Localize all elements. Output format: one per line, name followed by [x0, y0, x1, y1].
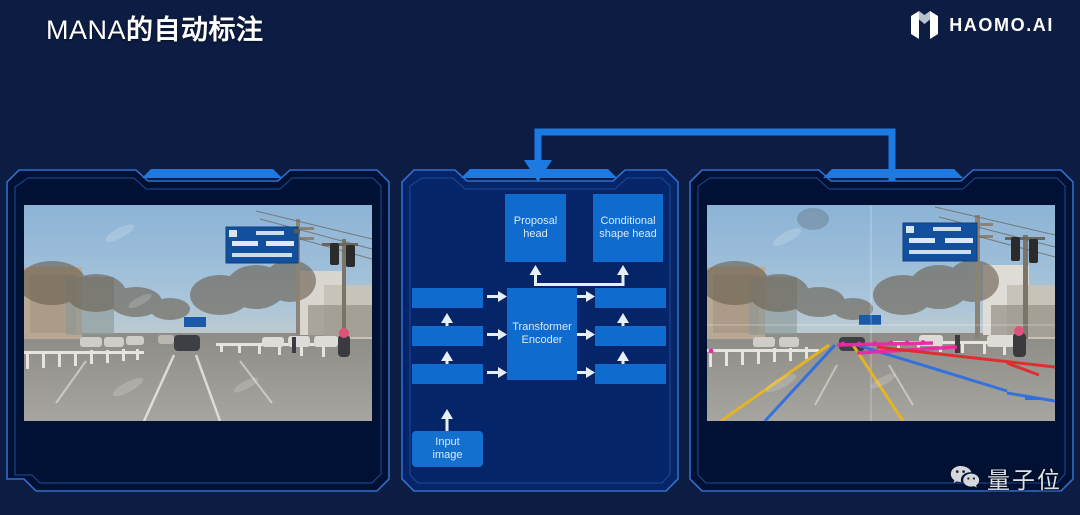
diagram-node-conditional-shape-head: Conditional shape head	[593, 194, 663, 262]
node-label-line1: Conditional	[599, 215, 657, 228]
node-label-line2: shape head	[599, 228, 657, 241]
panel-top-notch	[823, 169, 963, 178]
page-title-latin: MANA	[46, 15, 126, 45]
node-label-line2: head	[514, 228, 557, 241]
annotated-street-scene-photo	[707, 205, 1055, 421]
diagram-node-feature-1	[595, 288, 666, 308]
arrow-backbone3-to-encoder	[487, 367, 507, 378]
diagram-node-proposal-head: Proposal head	[505, 194, 566, 262]
arrow-encoder-to-feature3	[575, 367, 595, 378]
diagram-node-transformer-encoder: Transformer Encoder	[507, 288, 577, 380]
arrow-encoder-to-feature1	[575, 291, 595, 302]
mana-network-architecture-diagram: Proposal head Conditional shape head Tra…	[401, 169, 679, 494]
input-photo-panel	[6, 169, 390, 494]
diagram-node-backbone-3	[412, 364, 483, 384]
direction-sign	[226, 227, 298, 263]
arrow-backbone2-to-encoder	[487, 329, 507, 340]
brand-name: HAOMO.AI	[949, 15, 1054, 36]
node-label-line1: Proposal	[514, 215, 557, 228]
page-title-zh: 的自动标注	[126, 15, 264, 45]
haomo-m-logo-icon	[911, 11, 938, 39]
diagram-node-input-image: Input image	[412, 431, 483, 467]
watermark: 量子位	[950, 461, 1062, 495]
diagram-node-backbone-1	[412, 288, 483, 308]
diagram-node-feature-2	[595, 326, 666, 346]
node-label-line1: Input	[433, 436, 463, 449]
node-label-line2: image	[433, 449, 463, 462]
brand-logo: HAOMO.AI	[911, 10, 1054, 40]
watermark-text: 量子位	[987, 461, 1062, 495]
model-diagram-panel: Proposal head Conditional shape head Tra…	[401, 169, 679, 494]
arrow-encoder-to-feature2	[575, 329, 595, 340]
diagram-node-backbone-2	[412, 326, 483, 346]
node-label-line1: Transformer	[512, 321, 572, 334]
page-title: MANA的自动标注	[46, 8, 264, 47]
wechat-icon	[950, 465, 980, 491]
street-scene-photo	[24, 205, 372, 421]
panel-top-notch	[142, 169, 282, 178]
direction-sign	[903, 223, 977, 261]
arrow-feature1-to-heads	[530, 265, 630, 286]
diagram-node-feature-3	[595, 364, 666, 384]
node-label-line2: Encoder	[512, 334, 572, 347]
arrow-backbone1-to-encoder	[487, 291, 507, 302]
page-header: MANA的自动标注 HAOMO.AI	[0, 0, 1080, 60]
output-photo-panel	[689, 169, 1074, 494]
